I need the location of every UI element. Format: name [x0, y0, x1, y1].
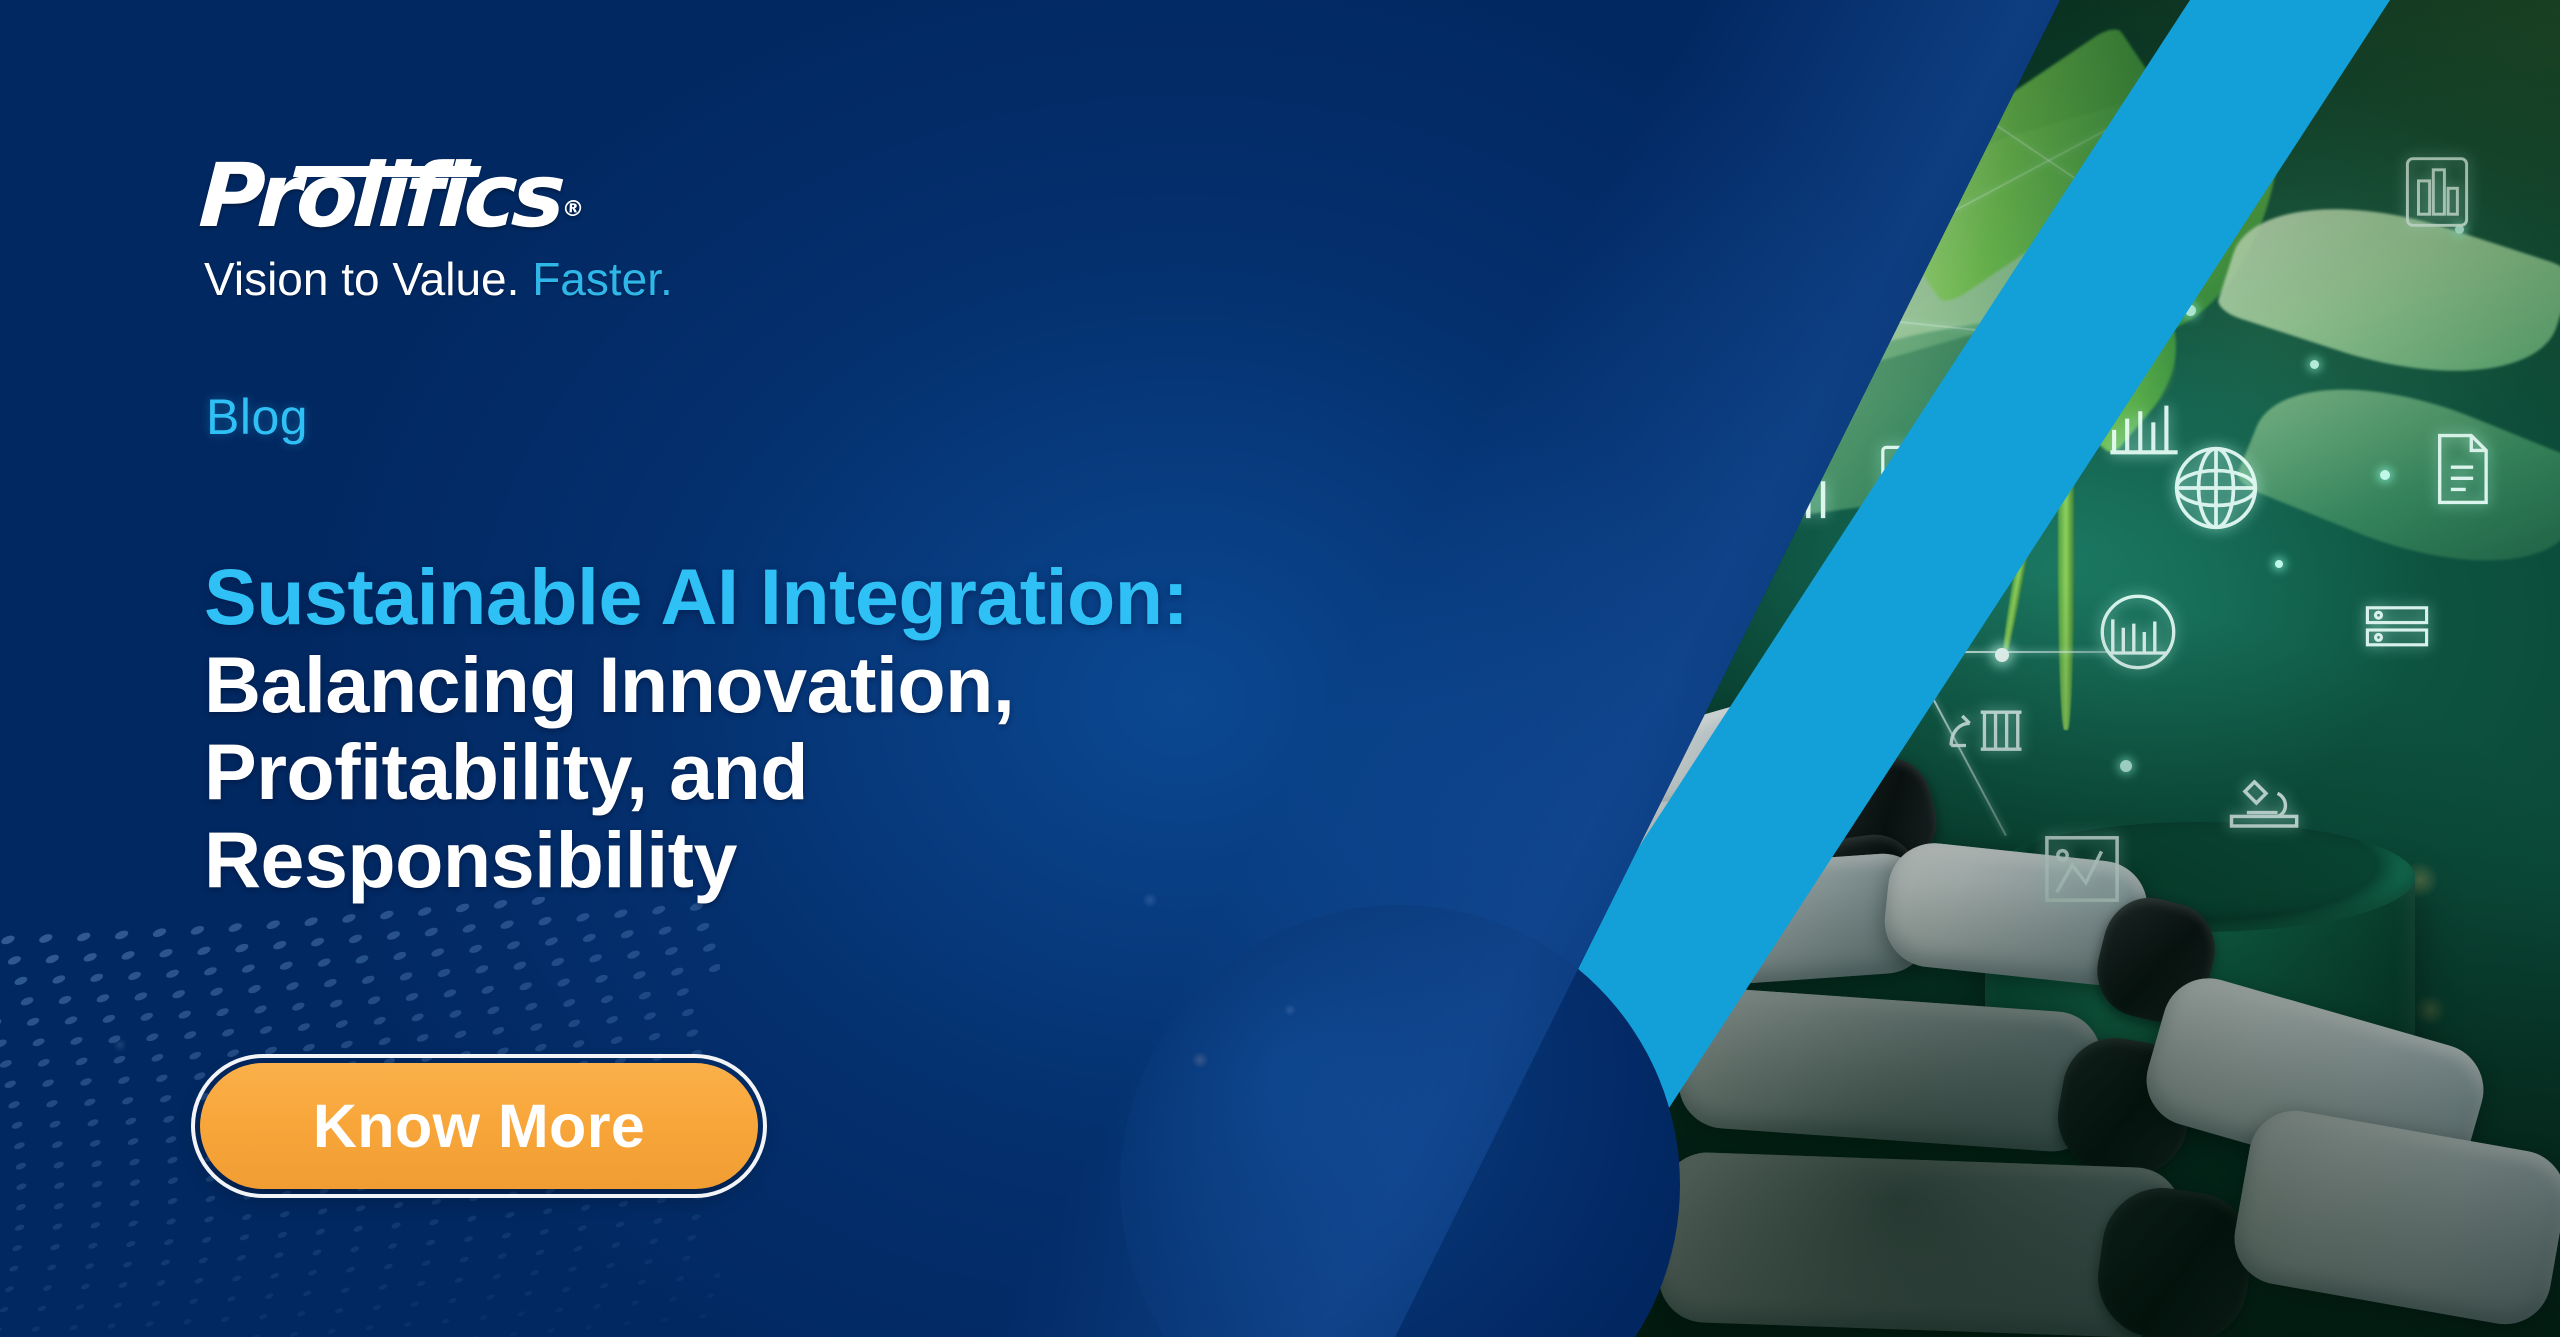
headline-line: Profitability, and: [204, 728, 1384, 816]
content-type-label: Blog: [206, 388, 308, 446]
registered-trademark-icon: ®: [561, 197, 585, 222]
logo-wordmark-text: Prolifics: [197, 144, 564, 247]
cta-container: Know More: [200, 1063, 758, 1189]
logo-wordmark: Prolifics®: [197, 152, 680, 240]
blog-promo-banner: Prolifics® Vision to Value. Faster. Blog…: [0, 0, 2560, 1337]
content-column: Prolifics® Vision to Value. Faster. Blog…: [0, 0, 1400, 1337]
headline-line: Responsibility: [204, 816, 1384, 904]
headline-line: Balancing Innovation,: [204, 641, 1384, 729]
tagline-accent: Faster.: [532, 253, 673, 305]
know-more-button[interactable]: Know More: [200, 1063, 758, 1189]
headline-accent-line: Sustainable AI Integration:: [204, 553, 1384, 641]
logo-tagline: Vision to Value. Faster.: [204, 254, 673, 305]
page-title: Sustainable AI Integration: Balancing In…: [204, 553, 1384, 904]
prolifics-overline-bar: [293, 166, 482, 177]
prolifics-logo[interactable]: Prolifics® Vision to Value. Faster.: [204, 152, 673, 305]
tagline-primary: Vision to Value.: [204, 253, 519, 305]
